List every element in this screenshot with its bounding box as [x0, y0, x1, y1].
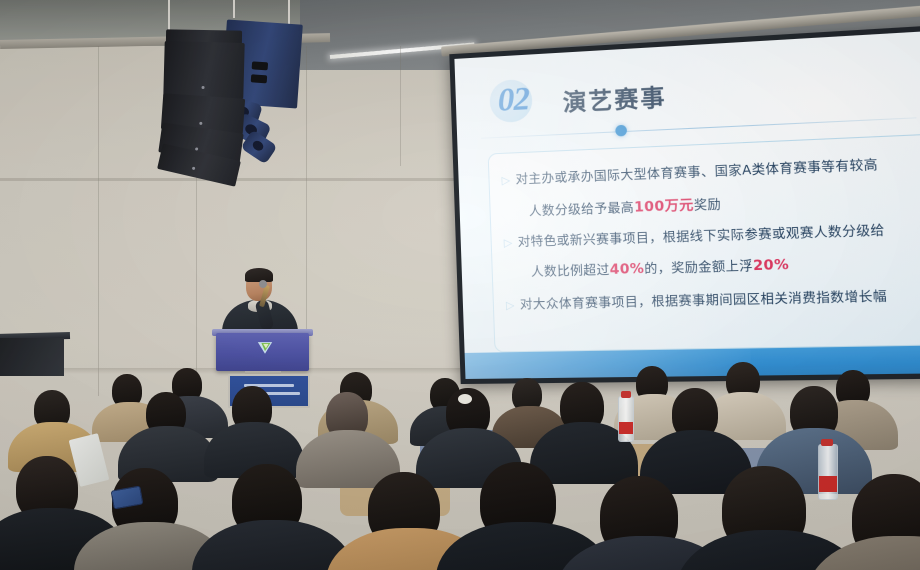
bullet-1: ▷对主办或承办国际大型体育赛事、国家A类体育赛事等有较高	[501, 151, 920, 189]
presentation-slide: 02 演艺赛事 ▷对主办或承办国际大型体育赛事、国家A类体育赛事等有较高 人数分…	[454, 30, 920, 379]
line-array-cabinet-black	[163, 41, 244, 99]
slide-header: 02 演艺赛事	[489, 79, 491, 123]
bullet-2-highlight-1: 40%	[609, 262, 644, 278]
header-accent-dot	[615, 125, 627, 137]
bullet-1-text-pre: 人数分级给予最高	[529, 199, 635, 218]
section-number: 02	[497, 81, 530, 120]
bullet-marker-icon: ▷	[504, 236, 513, 249]
bullet-2-line-1: 对特色或新兴赛事项目，根据线下实际参赛或观赛人数分级给	[517, 222, 885, 249]
wall-seam	[306, 46, 307, 346]
bullet-1-highlight: 100万元	[634, 198, 694, 216]
microphone-head-icon	[259, 280, 267, 288]
bullet-1-text-post: 奖励	[694, 196, 722, 213]
bullet-2: ▷对特色或新兴赛事项目，根据线下实际参赛或观赛人数分级给	[503, 217, 920, 250]
screen-frame: 02 演艺赛事 ▷对主办或承办国际大型体育赛事、国家A类体育赛事等有较高 人数分…	[449, 25, 920, 384]
presenter-hair	[245, 268, 273, 282]
hair-tie	[458, 394, 472, 404]
bullet-2-text-mid: 的，奖励金额上浮	[644, 258, 753, 276]
bottle-label	[619, 422, 633, 434]
wall-seam	[98, 46, 99, 396]
bullet-3: ▷对大众体育赛事项目，根据赛事期间园区相关消费指数增长幅	[506, 284, 920, 313]
bullet-marker-icon: ▷	[501, 174, 510, 187]
bullet-1-line-1: 对主办或承办国际大型体育赛事、国家A类体育赛事等有较高	[515, 156, 878, 186]
slide-content-card: ▷对主办或承办国际大型体育赛事、国家A类体育赛事等有较高 人数分级给予最高100…	[488, 133, 920, 352]
bullet-2-text-pre: 人数比例超过	[531, 262, 610, 279]
header-divider	[481, 117, 916, 138]
audience	[0, 360, 920, 570]
slide-title: 演艺赛事	[562, 77, 667, 117]
bullet-2-highlight-2: 20%	[753, 258, 790, 275]
bullet-3-line-1: 对大众体育赛事项目，根据赛事期间园区相关消费指数增长幅	[520, 288, 888, 312]
water-bottle	[618, 396, 634, 442]
water-bottle	[818, 444, 838, 500]
wall-seam	[400, 46, 401, 166]
conference-photo: 02 演艺赛事 ▷对主办或承办国际大型体育赛事、国家A类体育赛事等有较高 人数分…	[0, 0, 920, 570]
bullet-2-line-2: 人数比例超过40%的，奖励金额上浮20%	[531, 249, 920, 281]
podium-logo-icon	[256, 340, 274, 355]
bullet-marker-icon: ▷	[506, 299, 515, 312]
bottle-cap	[821, 439, 833, 446]
bottle-cap	[621, 391, 631, 398]
bottle-label	[819, 476, 837, 492]
bullet-1-line-2: 人数分级给予最高100万元奖励	[529, 182, 920, 220]
projection-screen: 02 演艺赛事 ▷对主办或承办国际大型体育赛事、国家A类体育赛事等有较高 人数分…	[449, 25, 920, 384]
